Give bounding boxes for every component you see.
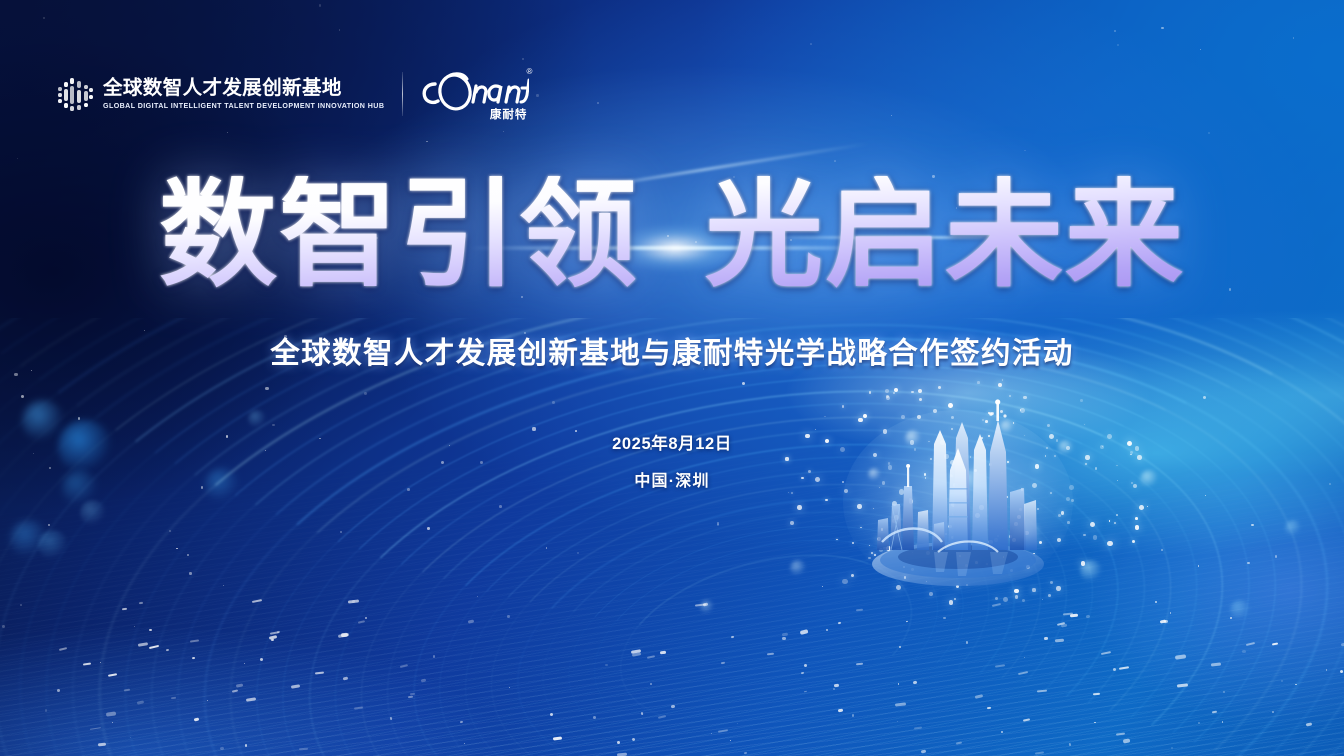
event-subtitle: 全球数智人才发展创新基地与康耐特光学战略合作签约活动 — [0, 330, 1344, 372]
event-location: 中国·深圳 — [0, 467, 1344, 491]
dot-matrix-logo-icon — [58, 76, 92, 112]
logo-divider — [402, 72, 403, 116]
main-title: 数智引领光启未来 — [0, 176, 1344, 294]
poster-canvas: 全球数智人才发展创新基地 GLOBAL DIGITAL INTELLIGENT … — [0, 0, 1344, 756]
title-part-1: 数智引领 — [159, 169, 639, 301]
conant-logo[interactable]: ® 康耐特 — [421, 68, 529, 120]
registered-trademark-icon: ® — [526, 67, 532, 76]
base-logo-cn-name: 全球数智人才发展创新基地 — [103, 78, 384, 100]
event-date: 2025年8月12日 — [0, 430, 1344, 454]
base-logo-text: 全球数智人才发展创新基地 GLOBAL DIGITAL INTELLIGENT … — [103, 78, 384, 110]
event-meta: 2025年8月12日 中国·深圳 — [0, 430, 1344, 491]
title-part-2: 光启未来 — [705, 169, 1185, 301]
city-skyline-illustration — [838, 392, 1088, 602]
base-logo-en-name: GLOBAL DIGITAL INTELLIGENT TALENT DEVELO… — [103, 102, 384, 111]
header-logo-bar: 全球数智人才发展创新基地 GLOBAL DIGITAL INTELLIGENT … — [58, 68, 529, 120]
conant-cn-name: 康耐特 — [490, 110, 528, 122]
title-text: 数智引领光启未来 — [159, 176, 1185, 294]
base-logo[interactable]: 全球数智人才发展创新基地 GLOBAL DIGITAL INTELLIGENT … — [58, 76, 384, 112]
conant-wordmark-icon — [421, 68, 529, 114]
